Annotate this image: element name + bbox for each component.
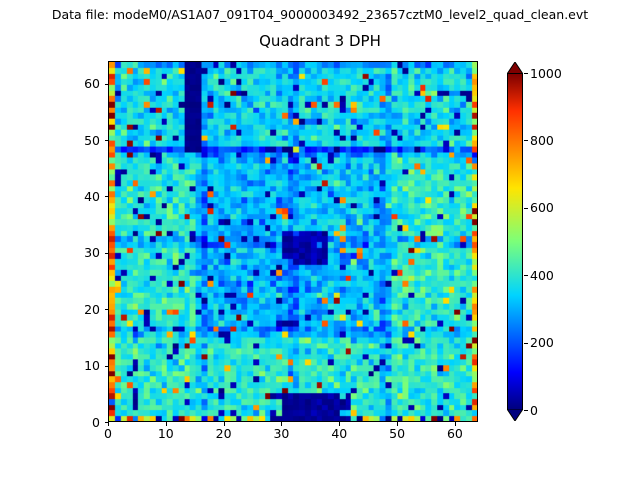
data-file-suptitle: Data file: modeM0/AS1A07_091T04_90000034… (0, 7, 640, 22)
dph-heatmap-axes[interactable] (108, 61, 478, 422)
x-tick-label: 30 (258, 427, 304, 440)
y-tick-label: 40 (56, 190, 100, 203)
colorbar-tick-mark (524, 410, 528, 411)
colorbar[interactable] (507, 62, 523, 421)
y-tick-mark (105, 140, 109, 141)
y-tick-mark (105, 84, 109, 85)
y-tick-label: 30 (56, 246, 100, 259)
colorbar-gradient-body (507, 73, 523, 410)
colorbar-tick-label: 600 (530, 201, 554, 214)
x-tick-label: 50 (374, 427, 420, 440)
x-tick-mark (108, 422, 109, 426)
y-tick-mark (105, 366, 109, 367)
colorbar-tick-label: 400 (530, 269, 554, 282)
x-tick-label: 0 (85, 427, 131, 440)
x-tick-mark (166, 422, 167, 426)
x-tick-mark (397, 422, 398, 426)
x-tick-mark (455, 422, 456, 426)
y-tick-label: 20 (56, 303, 100, 316)
y-tick-mark (105, 309, 109, 310)
x-tick-label: 60 (432, 427, 478, 440)
x-tick-label: 20 (201, 427, 247, 440)
y-tick-label: 60 (56, 77, 100, 90)
figure-canvas: Data file: modeM0/AS1A07_091T04_90000034… (0, 0, 640, 480)
colorbar-tick-label: 0 (530, 404, 538, 417)
y-tick-label: 50 (56, 134, 100, 147)
x-tick-mark (224, 422, 225, 426)
y-tick-mark (105, 196, 109, 197)
colorbar-tick-label: 800 (530, 134, 554, 147)
colorbar-tick-mark (524, 275, 528, 276)
x-tick-mark (281, 422, 282, 426)
colorbar-tick-label: 200 (530, 336, 554, 349)
colorbar-tick-mark (524, 208, 528, 209)
colorbar-tick-label: 1000 (530, 67, 562, 80)
colorbar-under-arrow-icon (507, 409, 523, 421)
plot-title: Quadrant 3 DPH (0, 32, 640, 50)
y-tick-mark (105, 253, 109, 254)
y-tick-label: 10 (56, 359, 100, 372)
x-tick-label: 10 (143, 427, 189, 440)
x-tick-label: 40 (316, 427, 362, 440)
colorbar-tick-mark (524, 343, 528, 344)
dph-heatmap-image (109, 62, 477, 421)
x-tick-mark (339, 422, 340, 426)
colorbar-tick-mark (524, 73, 528, 74)
colorbar-gradient (508, 74, 522, 409)
colorbar-tick-mark (524, 140, 528, 141)
